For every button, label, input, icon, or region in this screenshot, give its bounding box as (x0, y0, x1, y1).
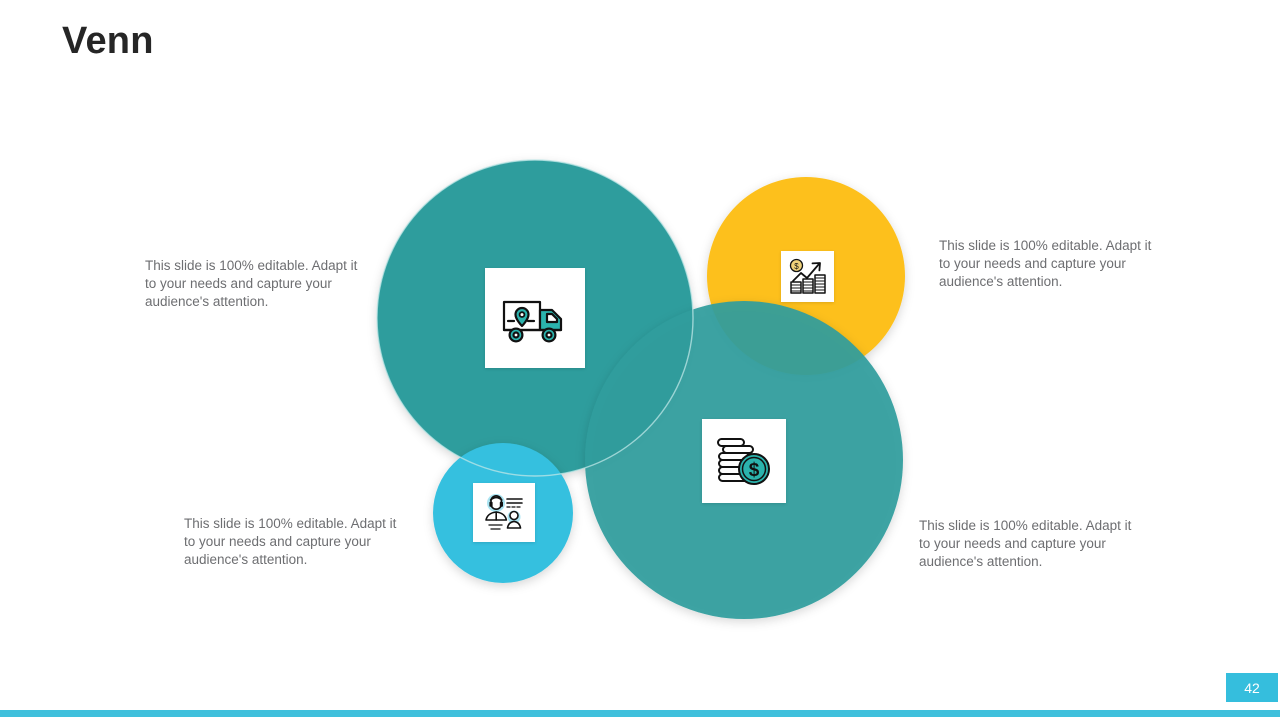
caption-growth: This slide is 100% editable. Adapt it to… (939, 237, 1154, 291)
venn-diagram (0, 0, 1280, 720)
caption-finance: This slide is 100% editable. Adapt it to… (919, 517, 1134, 571)
svg-text:$: $ (794, 262, 799, 271)
svg-text:$: $ (749, 460, 760, 481)
money-coins-icon: $ (714, 433, 774, 489)
icon-tile-money-coins[interactable]: $ (702, 419, 786, 503)
growth-chart-icon: $ (788, 258, 828, 296)
icon-tile-delivery-truck[interactable] (485, 268, 585, 368)
venn-circles-svg (0, 0, 1280, 720)
caption-people: This slide is 100% editable. Adapt it to… (184, 515, 399, 569)
icon-tile-team-people[interactable] (473, 483, 535, 542)
footer-accent-bar (0, 710, 1280, 717)
delivery-truck-icon (499, 290, 571, 346)
team-people-icon (481, 492, 527, 534)
icon-tile-growth-chart[interactable]: $ (781, 251, 834, 302)
slide-canvas: Venn (0, 0, 1280, 720)
page-number-badge: 42 (1226, 673, 1278, 702)
caption-delivery: This slide is 100% editable. Adapt it to… (145, 257, 360, 311)
